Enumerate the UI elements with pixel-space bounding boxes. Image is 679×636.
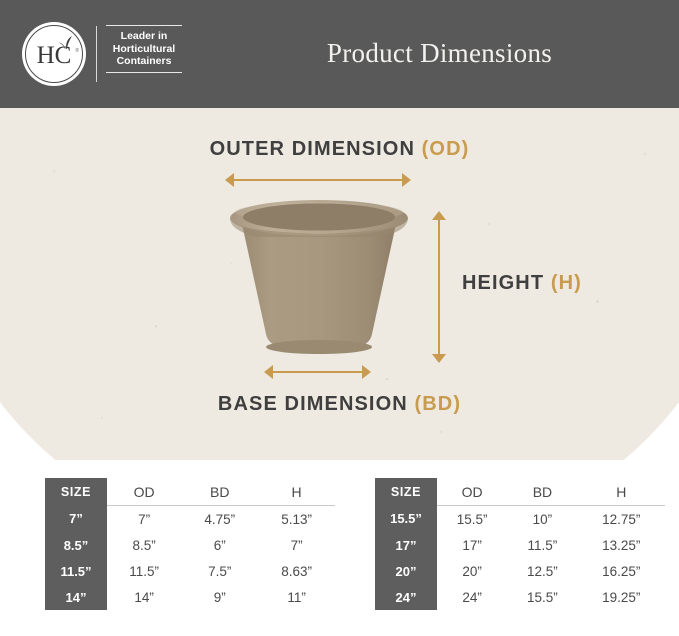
outer-dimension-abbr: (OD) xyxy=(422,138,470,160)
cell-value: 16.25” xyxy=(578,558,665,584)
arrow-head-down-icon xyxy=(432,354,446,363)
cell-value: 7.5” xyxy=(181,558,258,584)
column-header-bd: BD xyxy=(181,478,258,506)
cell-value: 20” xyxy=(437,558,507,584)
cell-value: 7” xyxy=(258,532,335,558)
arrow-head-right-icon xyxy=(402,173,411,187)
column-header-bd: BD xyxy=(507,478,577,506)
column-header-size: SIZE xyxy=(45,478,107,506)
table-row: 7”7”4.75”5.13” xyxy=(45,506,335,533)
cell-size: 24” xyxy=(375,584,437,610)
table-header-row: SIZEODBDH xyxy=(45,478,335,506)
height-abbr: (H) xyxy=(551,272,582,294)
base-dimension-abbr: (BD) xyxy=(414,393,461,415)
cell-value: 19.25” xyxy=(578,584,665,610)
tagline-rule-bottom xyxy=(106,72,182,73)
cell-value: 17” xyxy=(437,532,507,558)
column-header-od: OD xyxy=(107,478,181,506)
cell-size: 11.5” xyxy=(45,558,107,584)
cell-value: 12.75” xyxy=(578,506,665,533)
cell-value: 15.5” xyxy=(507,584,577,610)
outer-dimension-arrow xyxy=(225,173,411,187)
cell-value: 5.13” xyxy=(258,506,335,533)
column-header-size: SIZE xyxy=(375,478,437,506)
cell-value: 4.75” xyxy=(181,506,258,533)
cell-value: 8.5” xyxy=(107,532,181,558)
column-header-h: H xyxy=(578,478,665,506)
base-dimension-label: BASE DIMENSION (BD) xyxy=(0,393,679,416)
cell-size: 8.5” xyxy=(45,532,107,558)
height-arrow xyxy=(432,211,446,363)
outer-dimension-label: OUTER DIMENSION (OD) xyxy=(0,138,679,161)
outer-dimension-text: OUTER DIMENSION xyxy=(210,138,415,160)
size-table-left: SIZEODBDH 7”7”4.75”5.13”8.5”8.5”6”7”11.5… xyxy=(45,478,335,610)
cell-value: 10” xyxy=(507,506,577,533)
table-row: 17”17”11.5”13.25” xyxy=(375,532,665,558)
pot-inner-wall xyxy=(243,204,395,231)
height-text: HEIGHT xyxy=(462,272,544,294)
page-title: Product Dimensions xyxy=(0,38,679,69)
arrow-shaft xyxy=(271,371,364,373)
table-row: 24”24”15.5”19.25” xyxy=(375,584,665,610)
cell-value: 12.5” xyxy=(507,558,577,584)
base-dimension-arrow xyxy=(264,365,371,379)
column-header-od: OD xyxy=(437,478,507,506)
cell-size: 7” xyxy=(45,506,107,533)
cell-value: 7” xyxy=(107,506,181,533)
table-row: 14”14”9”11” xyxy=(45,584,335,610)
table-row: 20”20”12.5”16.25” xyxy=(375,558,665,584)
table-body: 7”7”4.75”5.13”8.5”8.5”6”7”11.5”11.5”7.5”… xyxy=(45,506,335,611)
pot-body xyxy=(242,224,396,348)
arrow-head-right-icon xyxy=(362,365,371,379)
cell-value: 6” xyxy=(181,532,258,558)
cell-value: 15.5” xyxy=(437,506,507,533)
cell-value: 14” xyxy=(107,584,181,610)
table-header-row: SIZEODBDH xyxy=(375,478,665,506)
arrow-shaft xyxy=(438,218,440,356)
table-row: 15.5”15.5”10”12.75” xyxy=(375,506,665,533)
height-label: HEIGHT (H) xyxy=(462,272,582,295)
cell-size: 20” xyxy=(375,558,437,584)
cell-size: 15.5” xyxy=(375,506,437,533)
cell-value: 24” xyxy=(437,584,507,610)
cell-size: 14” xyxy=(45,584,107,610)
table-row: 8.5”8.5”6”7” xyxy=(45,532,335,558)
table-row: 11.5”11.5”7.5”8.63” xyxy=(45,558,335,584)
arrow-shaft xyxy=(232,179,404,181)
cell-value: 11.5” xyxy=(107,558,181,584)
pot-base xyxy=(266,340,372,354)
cell-size: 17” xyxy=(375,532,437,558)
cell-value: 11.5” xyxy=(507,532,577,558)
flower-pot-illustration xyxy=(228,198,410,360)
cell-value: 8.63” xyxy=(258,558,335,584)
table-body: 15.5”15.5”10”12.75”17”17”11.5”13.25”20”2… xyxy=(375,506,665,611)
cell-value: 13.25” xyxy=(578,532,665,558)
cell-value: 9” xyxy=(181,584,258,610)
size-table-right: SIZEODBDH 15.5”15.5”10”12.75”17”17”11.5”… xyxy=(375,478,665,610)
cell-value: 11” xyxy=(258,584,335,610)
page-header: HC ® Leader in Horticultural Containers … xyxy=(0,0,679,108)
base-dimension-text: BASE DIMENSION xyxy=(218,393,408,415)
column-header-h: H xyxy=(258,478,335,506)
